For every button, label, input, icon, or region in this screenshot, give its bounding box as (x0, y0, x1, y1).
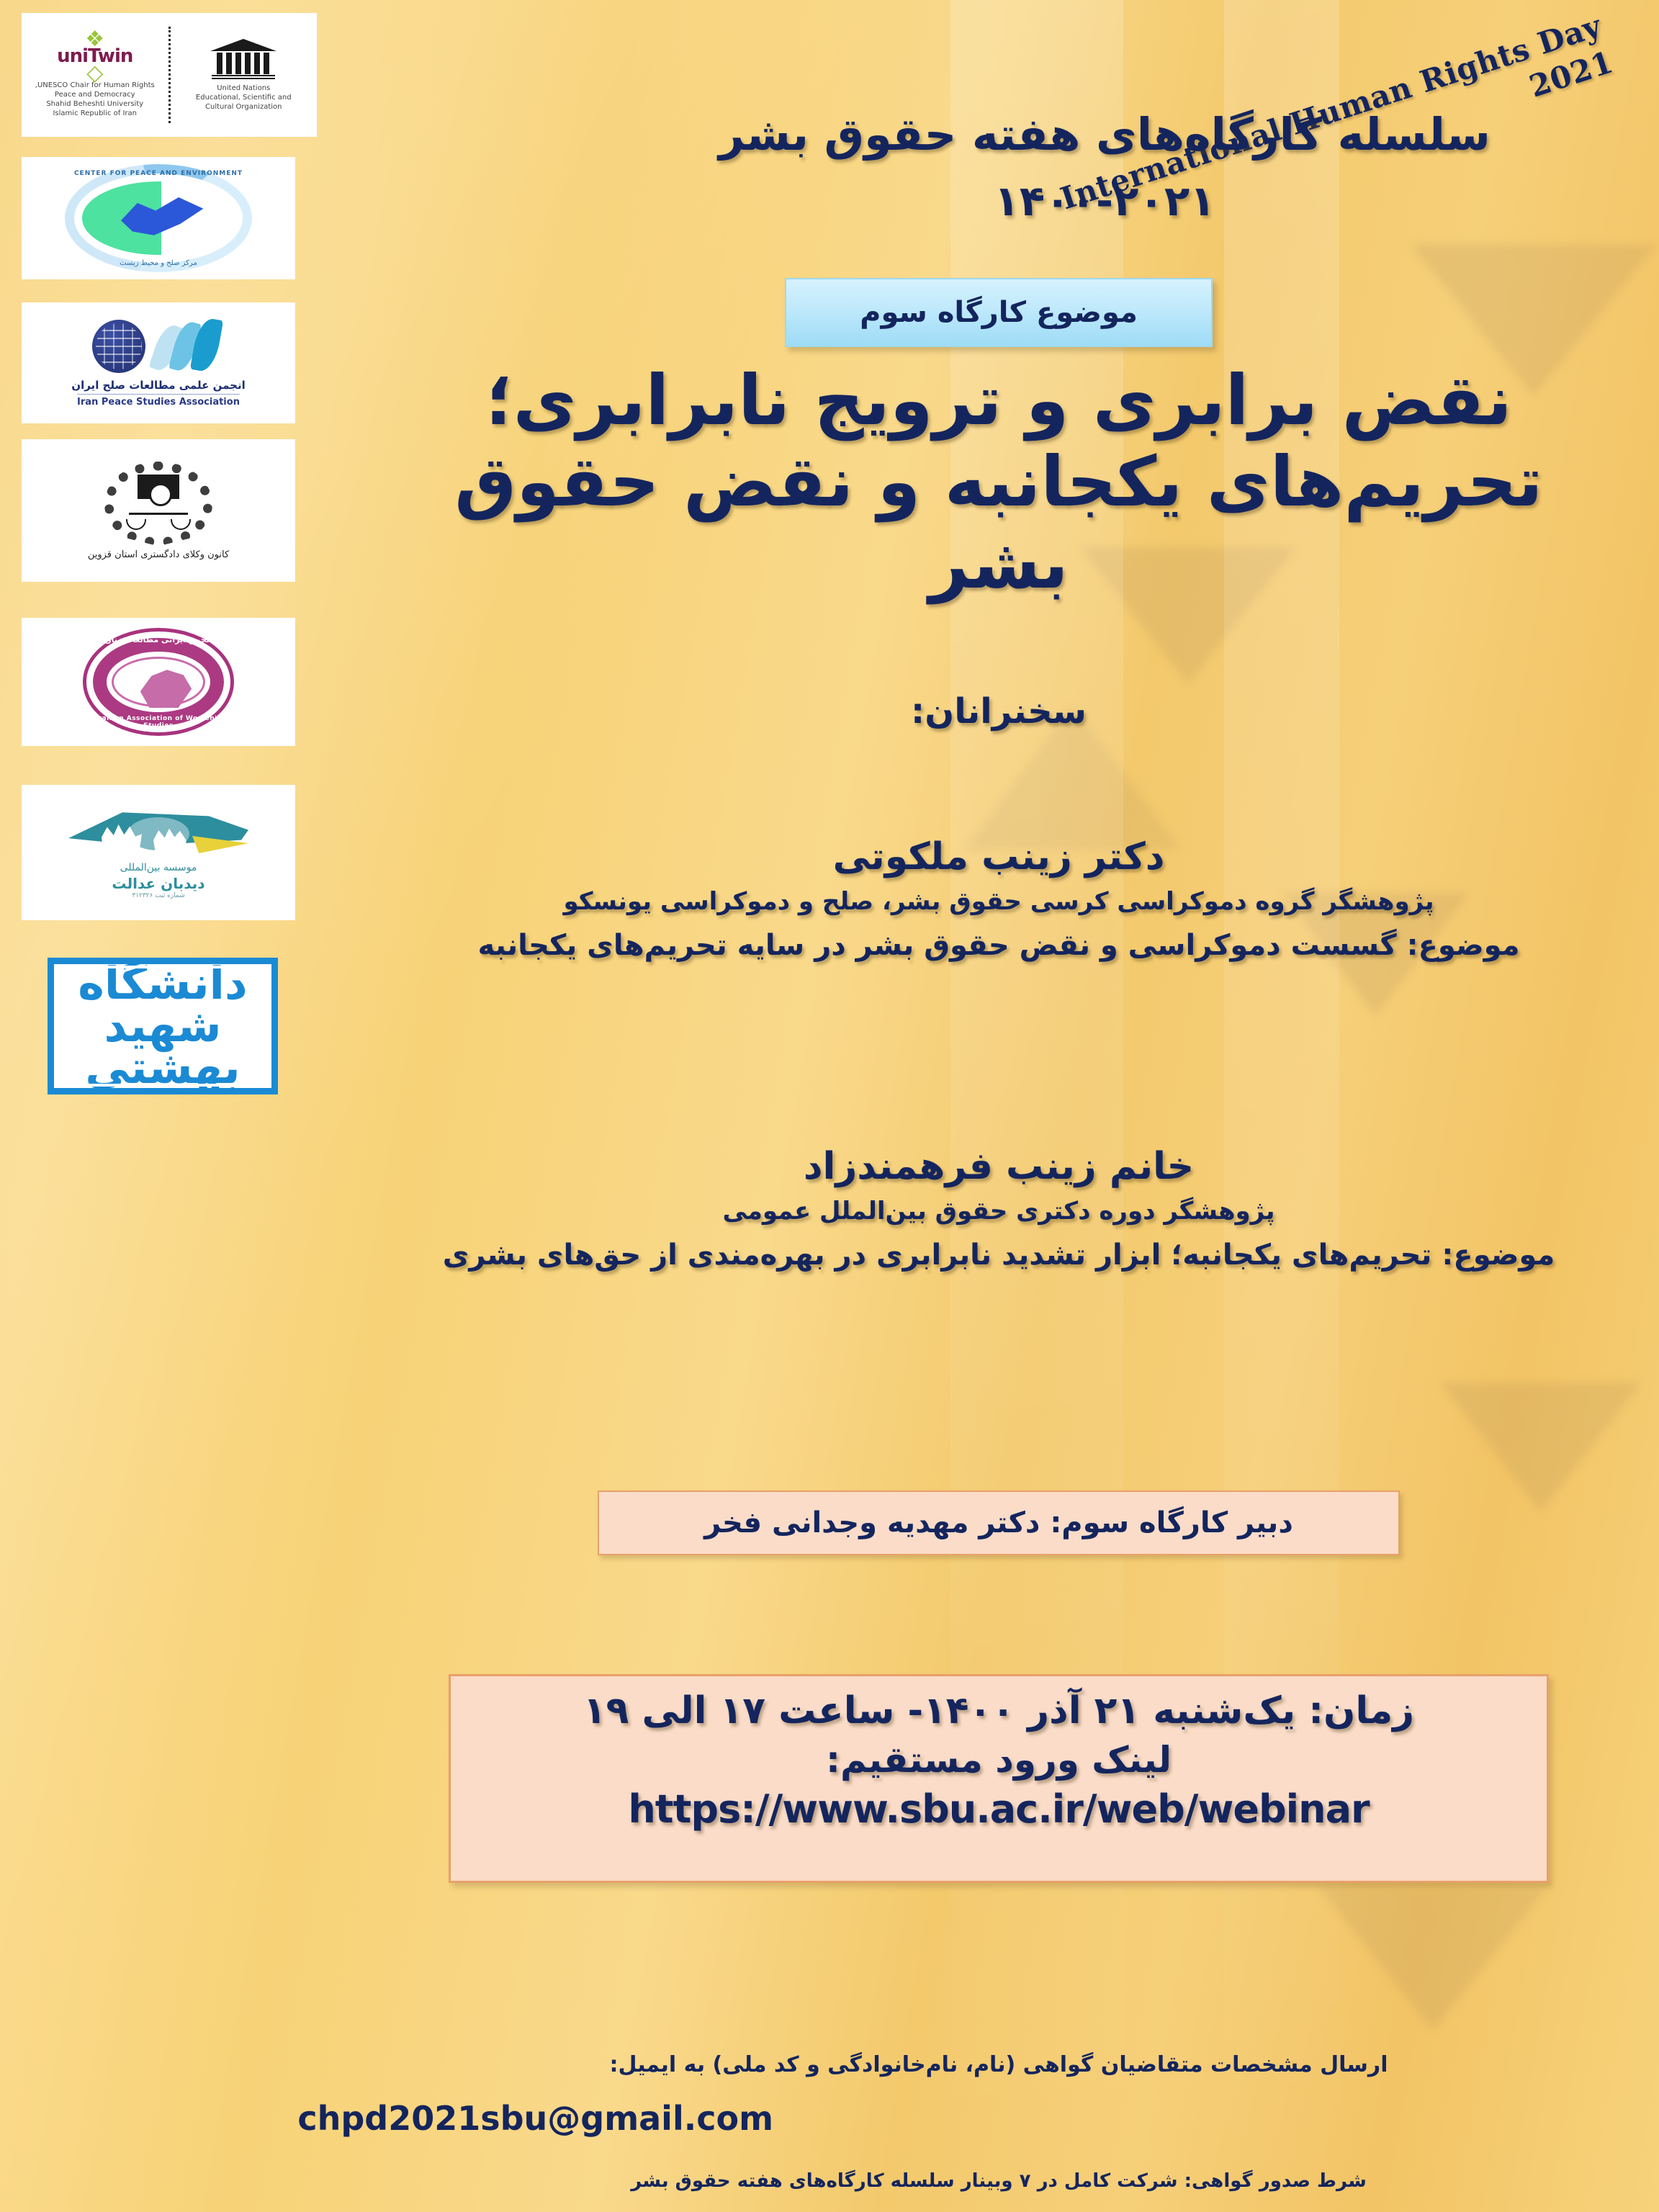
speaker-entry: دکتر زینب ملکوتی پژوهشگر گروه دموکراسی ک… (367, 835, 1630, 965)
poster-canvas: United Nations Educational, Scientific a… (0, 0, 1659, 2212)
speaker-name: خانم زینب فرهمندزاد (367, 1145, 1630, 1188)
event-link-label: لینک ورود مستقیم: (472, 1739, 1525, 1781)
certificate-request-line: ارسال مشخصات متقاضیان گواهی (نام، نام‌خا… (338, 2052, 1659, 2077)
ipsa-persian-name: انجمن علمی مطالعات صلح ایران (71, 379, 245, 392)
logo-qazvin-bar-association: کانون وکلای دادگستری استان قزوین (22, 439, 295, 582)
ipsa-english-name: Iran Peace Studies Association (77, 394, 240, 408)
workshop-series-title: سلسله کارگاه‌های هفته حقوق بشر (680, 108, 1529, 161)
bar-association-crest-icon (104, 462, 212, 547)
certificate-email[interactable]: chpd2021sbu@gmail.com (297, 2099, 773, 2138)
speaker-role: پژوهشگر دوره دکتری حقوق بین‌الملل عمومی (367, 1197, 1630, 1226)
event-webinar-link[interactable]: https://www.sbu.ac.ir/web/webinar (472, 1786, 1525, 1832)
speaker-role: پژوهشگر گروه دموکراسی کرسی حقوق بشر، صلح… (367, 887, 1630, 916)
sponsor-logo-rail: United Nations Educational, Scientific a… (0, 0, 338, 2212)
poster-content: International Human Rights Day 2021 سلسل… (338, 0, 1659, 2212)
seal-english-text: CENTER FOR PEACE AND ENVIRONMENT (65, 170, 252, 177)
logo-center-peace-environment: CENTER FOR PEACE AND ENVIRONMENT مرکز صل… (22, 157, 295, 279)
unesco-caption: United Nations Educational, Scientific a… (175, 84, 313, 112)
speaker-topic: موضوع: گسست دموکراسی و نقض حقوق بشر در س… (367, 926, 1630, 965)
jw-line2: دیدبان عدالت (61, 875, 256, 892)
page-title: نقض برابری و ترویج نابرابری؛ تحریم‌های ی… (382, 360, 1616, 605)
dotted-divider (168, 27, 171, 123)
workshop-series-years: ۱۴۰۰-۲۰۲۱ (680, 176, 1529, 225)
logo-unesco-unitwin: United Nations Educational, Scientific a… (22, 13, 317, 137)
speaker-topic: موضوع: تحریم‌های یکجانبه؛ ابزار تشدید نا… (367, 1236, 1630, 1274)
wsa-english-name: Iranian Association of Women's Studies (83, 715, 234, 729)
globe-dove-icon (92, 318, 224, 374)
speaker-entry: خانم زینب فرهمندزاد پژوهشگر دوره دکتری ح… (367, 1145, 1630, 1274)
jw-line1: موسسه بین‌المللی (61, 862, 256, 873)
seal-persian-text: مرکز صلح و محیط زیست (65, 259, 252, 267)
speaker-name: دکتر زینب ملکوتی (367, 835, 1630, 878)
unesco-chair-caption: UNESCO Chair for Human Rights, Peace and… (26, 81, 164, 118)
logo-justice-watch: موسسه بین‌المللی دیدبان عدالت شماره ثبت … (22, 785, 295, 920)
workshop-topic-badge: موضوع کارگاه سوم (785, 278, 1213, 347)
logo-womens-studies: انجمن ایرانی مطالعات زنان Iranian Associ… (22, 618, 295, 746)
justice-watch-eye-icon: موسسه بین‌المللی دیدبان عدالت شماره ثبت … (61, 806, 256, 899)
speakers-heading: سخنرانان: (338, 691, 1659, 732)
womens-studies-seal-icon: انجمن ایرانی مطالعات زنان Iranian Associ… (83, 628, 234, 736)
main-title-line2: تحریم‌های یکجانبه و نقض حقوق بشر (382, 441, 1616, 605)
logo-iran-peace-studies: انجمن علمی مطالعات صلح ایران Iran Peace … (22, 302, 295, 423)
unesco-temple-icon (210, 39, 276, 81)
certificate-condition-note: شرط صدور گواهی: شرکت کامل در ۷ وبینار سل… (338, 2170, 1659, 2192)
wsa-persian-name: انجمن ایرانی مطالعات زنان (83, 635, 234, 644)
peace-environment-seal-icon: CENTER FOR PEACE AND ENVIRONMENT مرکز صل… (65, 164, 252, 272)
event-time: زمان: یک‌شنبه ۲۱ آذر ۱۴۰۰- ساعت ۱۷ الی ۱… (472, 1688, 1525, 1735)
main-title-line1: نقض برابری و ترویج نابرابری؛ (382, 360, 1616, 441)
sbu-persian-name: دانشگاه شهید بهشتی (54, 958, 271, 1094)
workshop-secretary-box: دبیر کارگاه سوم: دکتر مهدیه وجدانی فخر (598, 1491, 1400, 1555)
unitwin-icon: ❖ uniTwin ◇ (26, 32, 164, 81)
jw-line3: شماره ثبت ۳۱۲۳۲۶ (61, 892, 256, 899)
qazvin-bar-persian-name: کانون وکلای دادگستری استان قزوین (88, 549, 229, 560)
event-details-box: زمان: یک‌شنبه ۲۱ آذر ۱۴۰۰- ساعت ۱۷ الی ۱… (449, 1674, 1549, 1883)
logo-shahid-beheshti-university: دانشگاه شهید بهشتی (48, 958, 278, 1094)
